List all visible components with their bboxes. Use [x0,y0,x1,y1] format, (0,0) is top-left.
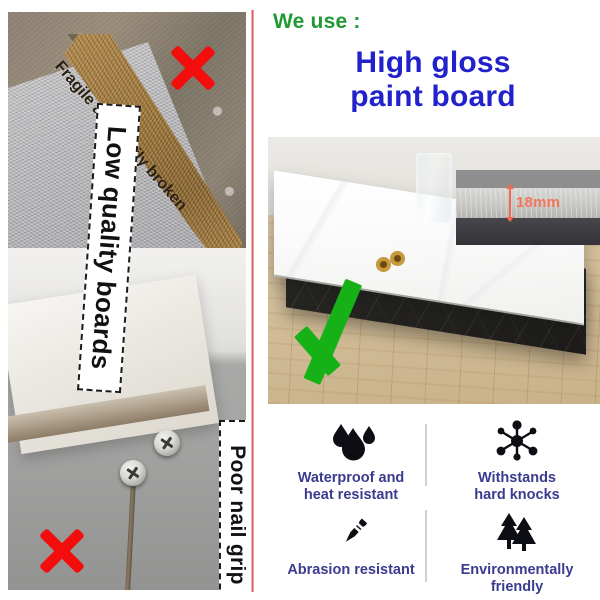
feature-label-abrasion: Abrasion resistant [287,562,414,579]
headline-line-1: High gloss [274,46,592,80]
screw-head-lower [120,460,146,486]
reject-x-icon-bottom [36,525,88,577]
we-use-label: We use : [273,10,361,34]
poor-nail-grip-callout: Poor nail grip [219,420,246,590]
reject-x-icon-top [167,42,219,94]
high-gloss-panel: We use : High gloss paint board 18mm [262,0,600,600]
feature-label-hard-knocks: Withstands hard knocks [474,470,559,504]
water-drops-icon [323,418,379,464]
thickness-label: 18mm [516,194,560,211]
feature-waterproof: Waterproof and heat resistant [268,412,434,504]
headline-line-2: paint board [274,80,592,114]
dimension-arrow-icon [509,188,511,218]
page-title: High gloss paint board [274,46,592,113]
board-cross-section-dark [456,218,600,245]
knife-blade-icon [328,510,374,556]
dried-flower-b [390,251,405,266]
impact-burst-icon [492,418,542,464]
feature-abrasion: Abrasion resistant [268,504,434,596]
pine-trees-icon [491,510,543,556]
dried-flower-a [376,257,391,272]
feature-environment: Environmentally friendly [434,504,600,596]
feature-label-waterproof: Waterproof and heat resistant [298,470,405,504]
product-photo: 18mm [268,137,600,404]
approve-check-icon [290,289,382,385]
thickness-detail-inset: 18mm [456,170,600,245]
feature-label-environment: Environmentally friendly [461,562,574,596]
panel-divider [251,10,254,592]
low-quality-panel: Fragile and easily broken Low quality bo… [8,12,246,590]
screw-head-upper [154,430,180,456]
feature-grid: Waterproof and heat resistant [268,412,600,594]
infographic-root: Fragile and easily broken Low quality bo… [0,0,600,600]
feature-hard-knocks: Withstands hard knocks [434,412,600,504]
glass-tumbler [416,153,452,223]
